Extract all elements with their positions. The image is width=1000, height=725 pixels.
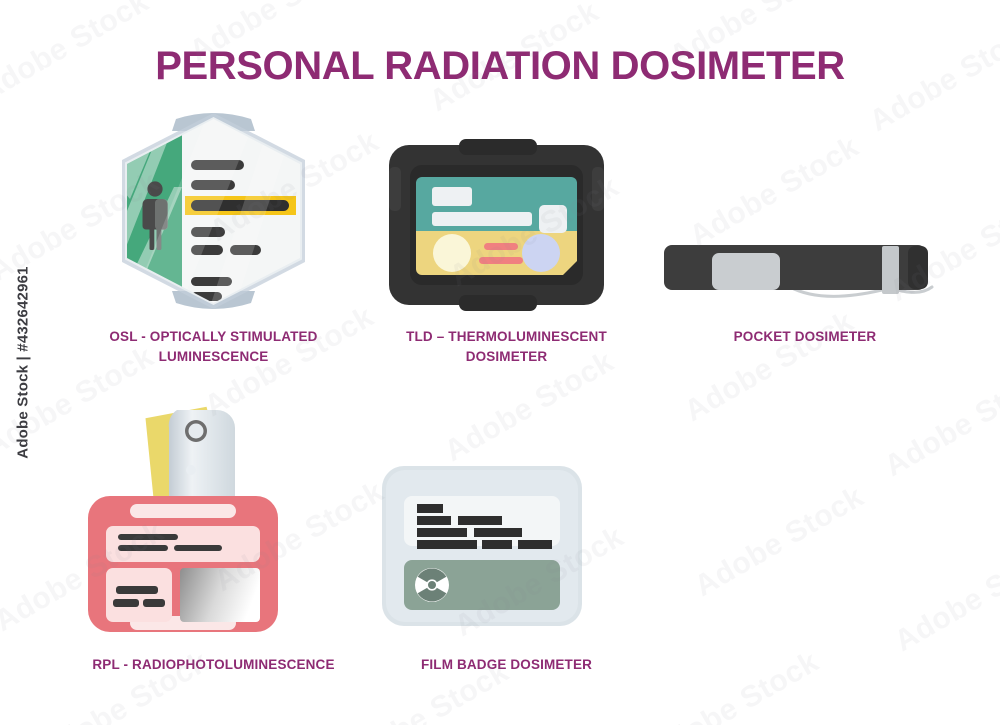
card-label-line1: RPL - RADIOPHOTOLUMINESCENCE (58, 655, 369, 675)
watermark-tile: Adobe Stock (644, 645, 825, 725)
card-label-osl: OSL - OPTICALLY STIMULATED LUMINESCENCE (58, 327, 369, 366)
card-label-line1: POCKET DOSIMETER (650, 327, 960, 347)
adobe-stock-id-watermark: Adobe Stock | #432642961 (6, 0, 40, 725)
radiation-trefoil-icon (415, 568, 449, 602)
page-title: PERSONAL RADIATION DOSIMETER (0, 44, 1000, 89)
osl-hexagon-badge-icon (58, 105, 369, 317)
watermark-tile: Adobe Stock (879, 360, 1000, 484)
pocket-dosimeter-pen-icon (650, 105, 960, 317)
adobe-stock-id-text: Adobe Stock | #432642961 (15, 266, 32, 458)
card-label-line1: FILM BADGE DOSIMETER (364, 655, 649, 675)
film-badge-dosimeter-icon (364, 398, 649, 643)
card-label-line2: LUMINESCENCE (58, 347, 369, 367)
dosimeter-card-osl: OSL - OPTICALLY STIMULATED LUMINESCENCE (58, 105, 369, 366)
watermark-tile: Adobe Stock (689, 480, 870, 604)
dosimeter-card-tld: TLD – THERMOLUMINESCENT DOSIMETER (364, 105, 649, 366)
rpl-clip-badge-icon (58, 398, 369, 643)
card-label-line2: DOSIMETER (364, 347, 649, 367)
card-label-tld: TLD – THERMOLUMINESCENT DOSIMETER (364, 327, 649, 366)
card-label-film: FILM BADGE DOSIMETER (364, 655, 649, 675)
card-label-line1: OSL - OPTICALLY STIMULATED (58, 327, 369, 347)
dosimeter-card-film: FILM BADGE DOSIMETER (364, 398, 649, 675)
watermark-tile: Adobe Stock (889, 535, 1000, 659)
tld-case-icon (364, 105, 649, 317)
card-label-line1: TLD – THERMOLUMINESCENT (364, 327, 649, 347)
card-label-rpl: RPL - RADIOPHOTOLUMINESCENCE (58, 655, 369, 675)
card-label-pocket: POCKET DOSIMETER (650, 327, 960, 347)
dosimeter-card-rpl: RPL - RADIOPHOTOLUMINESCENCE (58, 398, 369, 675)
dosimeter-card-pocket: POCKET DOSIMETER (650, 105, 960, 347)
